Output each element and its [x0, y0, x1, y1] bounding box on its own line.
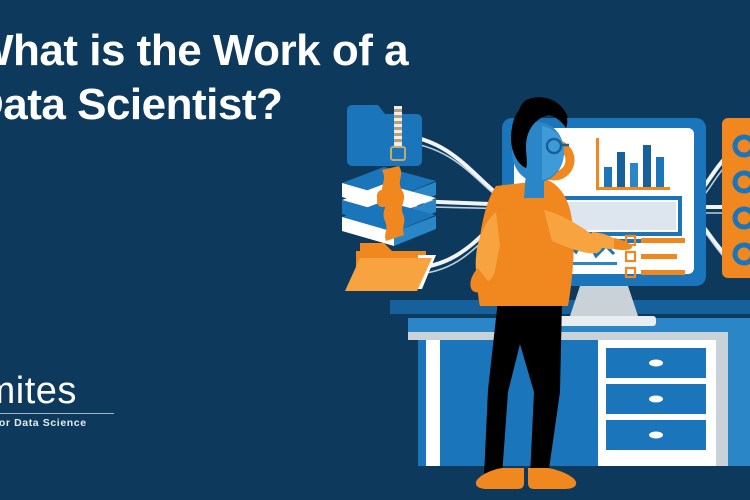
brand-logo[interactable]: amites titute for Data Science [0, 372, 192, 429]
server-rack-icon [722, 118, 750, 278]
logo-wordmark: amites [0, 372, 192, 410]
logo-tagline: titute for Data Science [0, 417, 192, 429]
desk-back-band [390, 300, 750, 314]
page-title: What is the Work of a Data Scientist? [0, 24, 512, 131]
logo-divider [0, 413, 114, 414]
open-folder-icon [345, 243, 436, 291]
monitor-checklist [626, 236, 685, 277]
drawer-cabinet [598, 330, 750, 468]
archive-stack-icon [342, 166, 436, 246]
banner-canvas: What is the Work of a Data Scientist? am… [0, 0, 750, 500]
